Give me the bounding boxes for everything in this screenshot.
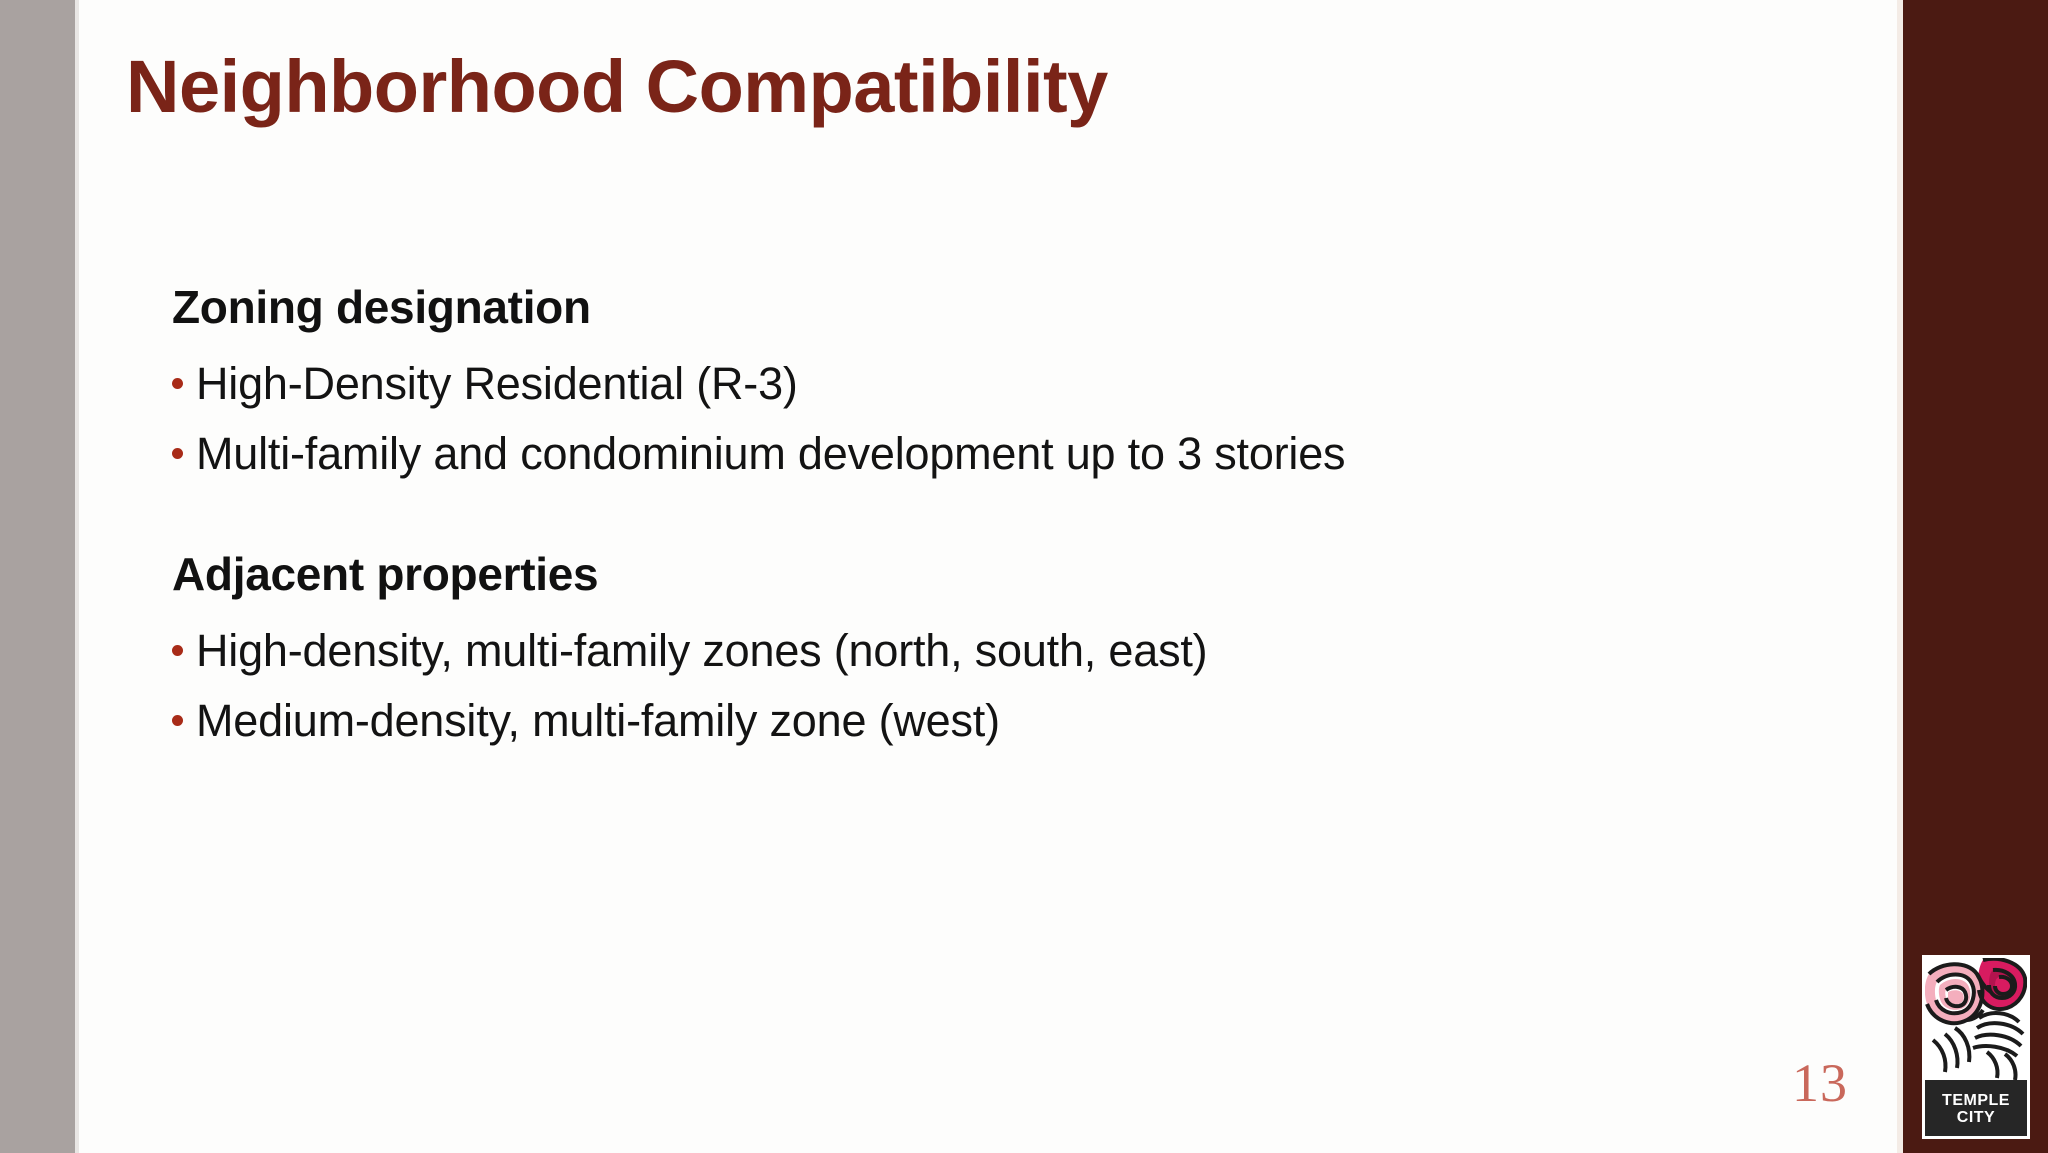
rose-graphic-icon bbox=[1925, 958, 2027, 1080]
slide-title: Neighborhood Compatibility bbox=[126, 44, 1108, 129]
bullet-text: High-density, multi-family zones (north,… bbox=[196, 627, 1207, 675]
bullet-dot-icon bbox=[172, 448, 183, 459]
bullet-item: High-Density Residential (R-3) bbox=[172, 360, 1852, 408]
bullet-item: High-density, multi-family zones (north,… bbox=[172, 627, 1852, 675]
slide-body: Zoning designation High-Density Resident… bbox=[172, 280, 1852, 745]
section-heading: Zoning designation bbox=[172, 280, 1852, 334]
page-number: 13 bbox=[1792, 1052, 1848, 1114]
bullet-text: Medium-density, multi-family zone (west) bbox=[196, 697, 1000, 745]
section-zoning-designation: Zoning designation High-Density Resident… bbox=[172, 280, 1852, 477]
logo-line-2: CITY bbox=[1957, 1110, 1995, 1126]
bullet-text: High-Density Residential (R-3) bbox=[196, 360, 798, 408]
logo-line-1: TEMPLE bbox=[1942, 1093, 2010, 1109]
bullet-dot-icon bbox=[172, 645, 183, 656]
left-band-divider bbox=[75, 0, 79, 1153]
slide: Neighborhood Compatibility Zoning design… bbox=[0, 0, 2048, 1153]
bullet-dot-icon bbox=[172, 715, 183, 726]
section-heading: Adjacent properties bbox=[172, 547, 1852, 601]
bullet-item: Multi-family and condominium development… bbox=[172, 430, 1852, 478]
left-decorative-band bbox=[0, 0, 75, 1153]
bullet-dot-icon bbox=[172, 378, 183, 389]
bullet-text: Multi-family and condominium development… bbox=[196, 430, 1345, 478]
logo-caption: TEMPLE CITY bbox=[1925, 1080, 2027, 1139]
bullet-item: Medium-density, multi-family zone (west) bbox=[172, 697, 1852, 745]
temple-city-logo: TEMPLE CITY bbox=[1922, 955, 2030, 1139]
section-adjacent-properties: Adjacent properties High-density, multi-… bbox=[172, 547, 1852, 744]
